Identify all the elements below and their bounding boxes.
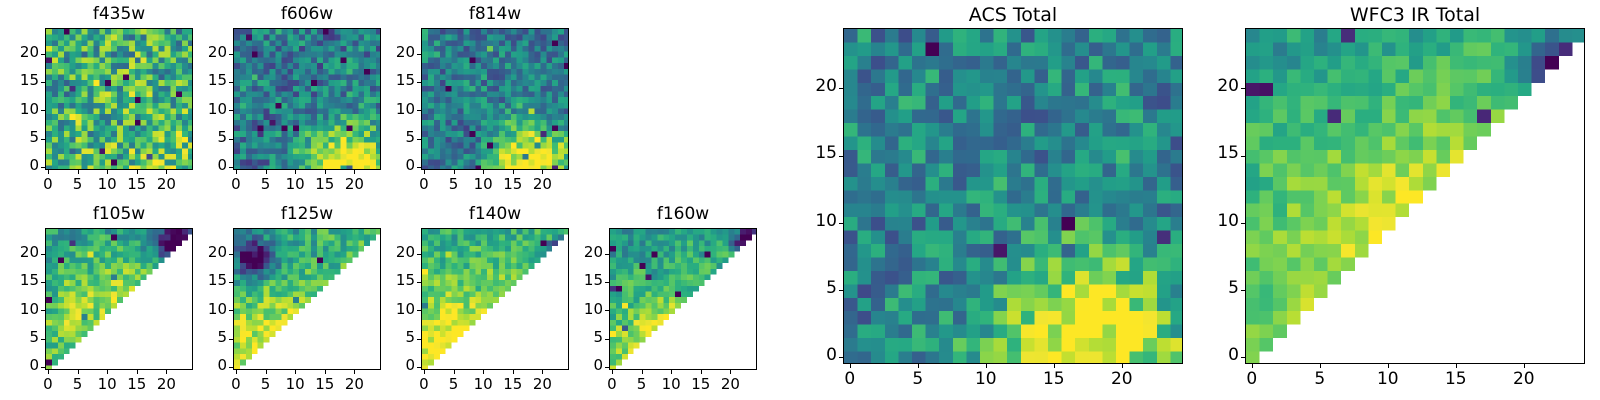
y-tick-mark bbox=[1241, 290, 1245, 291]
x-tick-mark bbox=[483, 370, 484, 374]
plot-area-f814w bbox=[421, 28, 569, 170]
x-tick-label: 20 bbox=[146, 375, 186, 393]
panel-title-f140w: f140w bbox=[421, 204, 569, 224]
heatmap-f105w bbox=[46, 229, 193, 370]
panel-title-acs-total: ACS Total bbox=[843, 4, 1183, 26]
y-tick-label: 0 bbox=[381, 156, 415, 174]
x-tick-label: 10 bbox=[966, 369, 1006, 389]
x-tick-label: 10 bbox=[1368, 369, 1408, 389]
x-tick-mark bbox=[166, 170, 167, 174]
y-tick-label: 20 bbox=[803, 76, 837, 96]
heatmap-wfc3-ir-total bbox=[1246, 29, 1585, 364]
y-tick-mark bbox=[417, 282, 421, 283]
x-tick-mark bbox=[513, 170, 514, 174]
x-tick-label: 5 bbox=[898, 369, 938, 389]
plot-area-wfc3-ir-total bbox=[1245, 28, 1585, 364]
y-tick-label: 10 bbox=[381, 100, 415, 118]
y-tick-mark bbox=[41, 254, 45, 255]
y-tick-mark bbox=[229, 82, 233, 83]
y-tick-label: 10 bbox=[381, 300, 415, 318]
y-tick-mark bbox=[605, 254, 609, 255]
heatmap-f606w bbox=[234, 29, 381, 170]
y-tick-label: 20 bbox=[569, 243, 603, 261]
y-tick-label: 15 bbox=[381, 71, 415, 89]
y-tick-mark bbox=[839, 156, 843, 157]
y-tick-label: 15 bbox=[5, 71, 39, 89]
x-tick-mark bbox=[671, 370, 672, 374]
y-tick-mark bbox=[229, 310, 233, 311]
x-tick-mark bbox=[266, 370, 267, 374]
x-tick-mark bbox=[1388, 364, 1389, 368]
x-tick-mark bbox=[1320, 364, 1321, 368]
y-tick-mark bbox=[417, 139, 421, 140]
y-tick-label: 15 bbox=[381, 271, 415, 289]
y-tick-label: 0 bbox=[381, 356, 415, 374]
y-tick-label: 10 bbox=[803, 211, 837, 231]
y-tick-mark bbox=[41, 82, 45, 83]
y-tick-mark bbox=[1241, 223, 1245, 224]
y-tick-label: 10 bbox=[5, 300, 39, 318]
x-tick-label: 5 bbox=[1300, 369, 1340, 389]
x-tick-mark bbox=[1122, 364, 1123, 368]
panel-f140w: f140w0510152005101520 bbox=[381, 204, 577, 398]
x-tick-mark bbox=[166, 370, 167, 374]
x-tick-mark bbox=[48, 170, 49, 174]
x-tick-mark bbox=[542, 170, 543, 174]
panel-f606w: f606w0510152005101520 bbox=[193, 4, 389, 198]
y-tick-mark bbox=[417, 167, 421, 168]
y-tick-label: 0 bbox=[569, 356, 603, 374]
y-tick-label: 20 bbox=[381, 243, 415, 261]
y-tick-label: 0 bbox=[1205, 345, 1239, 365]
x-tick-mark bbox=[1524, 364, 1525, 368]
y-tick-mark bbox=[1241, 88, 1245, 89]
x-tick-mark bbox=[1456, 364, 1457, 368]
y-tick-label: 15 bbox=[569, 271, 603, 289]
y-tick-mark bbox=[839, 88, 843, 89]
panel-f105w: f105w0510152005101520 bbox=[5, 204, 201, 398]
y-tick-mark bbox=[417, 254, 421, 255]
plot-area-acs-total bbox=[843, 28, 1183, 364]
y-tick-mark bbox=[417, 310, 421, 311]
y-tick-mark bbox=[605, 282, 609, 283]
x-tick-label: 20 bbox=[522, 175, 562, 193]
y-tick-mark bbox=[839, 290, 843, 291]
y-tick-mark bbox=[1241, 357, 1245, 358]
y-tick-mark bbox=[417, 54, 421, 55]
panel-acs-total: ACS Total0510152005101520 bbox=[803, 4, 1191, 392]
y-tick-label: 10 bbox=[1205, 211, 1239, 231]
plot-area-f606w bbox=[233, 28, 381, 170]
heatmap-f160w bbox=[610, 229, 757, 370]
panel-title-f105w: f105w bbox=[45, 204, 193, 224]
x-tick-mark bbox=[48, 370, 49, 374]
plot-area-f105w bbox=[45, 228, 193, 370]
y-tick-label: 0 bbox=[5, 156, 39, 174]
x-tick-mark bbox=[295, 370, 296, 374]
x-tick-mark bbox=[1252, 364, 1253, 368]
x-tick-label: 15 bbox=[1436, 369, 1476, 389]
plot-area-f435w bbox=[45, 28, 193, 170]
x-tick-mark bbox=[325, 170, 326, 174]
x-tick-label: 20 bbox=[522, 375, 562, 393]
panel-f160w: f160w0510152005101520 bbox=[569, 204, 765, 398]
x-tick-mark bbox=[325, 370, 326, 374]
y-tick-mark bbox=[229, 367, 233, 368]
y-tick-mark bbox=[839, 223, 843, 224]
x-tick-label: 15 bbox=[1034, 369, 1074, 389]
x-tick-mark bbox=[78, 370, 79, 374]
y-tick-label: 5 bbox=[1205, 278, 1239, 298]
panel-wfc3-ir-total: WFC3 IR Total0510152005101520 bbox=[1205, 4, 1593, 392]
panel-title-f606w: f606w bbox=[233, 4, 381, 24]
x-tick-mark bbox=[137, 370, 138, 374]
y-tick-label: 5 bbox=[5, 128, 39, 146]
y-tick-mark bbox=[229, 139, 233, 140]
panel-title-f435w: f435w bbox=[45, 4, 193, 24]
y-tick-mark bbox=[41, 367, 45, 368]
y-tick-label: 15 bbox=[193, 71, 227, 89]
y-tick-label: 15 bbox=[193, 271, 227, 289]
x-tick-mark bbox=[986, 364, 987, 368]
x-tick-mark bbox=[424, 370, 425, 374]
x-tick-mark bbox=[78, 170, 79, 174]
y-tick-label: 20 bbox=[193, 43, 227, 61]
y-tick-label: 10 bbox=[569, 300, 603, 318]
y-tick-mark bbox=[229, 282, 233, 283]
y-tick-label: 20 bbox=[193, 243, 227, 261]
y-tick-label: 20 bbox=[381, 43, 415, 61]
x-tick-mark bbox=[513, 370, 514, 374]
y-tick-label: 20 bbox=[5, 243, 39, 261]
x-tick-mark bbox=[295, 170, 296, 174]
x-tick-mark bbox=[107, 170, 108, 174]
y-tick-label: 0 bbox=[193, 356, 227, 374]
y-tick-label: 15 bbox=[1205, 143, 1239, 163]
y-tick-label: 5 bbox=[5, 328, 39, 346]
x-tick-label: 20 bbox=[710, 375, 750, 393]
y-tick-mark bbox=[839, 357, 843, 358]
x-tick-mark bbox=[454, 170, 455, 174]
x-tick-mark bbox=[918, 364, 919, 368]
y-tick-label: 5 bbox=[381, 328, 415, 346]
y-tick-label: 10 bbox=[5, 100, 39, 118]
y-tick-label: 10 bbox=[193, 300, 227, 318]
y-tick-label: 5 bbox=[193, 128, 227, 146]
y-tick-label: 20 bbox=[5, 43, 39, 61]
y-tick-mark bbox=[41, 282, 45, 283]
panel-f125w: f125w0510152005101520 bbox=[193, 204, 389, 398]
x-tick-label: 20 bbox=[334, 175, 374, 193]
y-tick-label: 5 bbox=[803, 278, 837, 298]
x-tick-mark bbox=[424, 170, 425, 174]
plot-area-f125w bbox=[233, 228, 381, 370]
y-tick-mark bbox=[229, 167, 233, 168]
y-tick-mark bbox=[417, 339, 421, 340]
y-tick-mark bbox=[417, 367, 421, 368]
x-tick-mark bbox=[354, 370, 355, 374]
y-tick-mark bbox=[605, 367, 609, 368]
x-tick-mark bbox=[483, 170, 484, 174]
heatmap-f125w bbox=[234, 229, 381, 370]
x-tick-mark bbox=[542, 370, 543, 374]
heatmap-acs-total bbox=[844, 29, 1183, 364]
y-tick-mark bbox=[229, 339, 233, 340]
y-tick-label: 0 bbox=[803, 345, 837, 365]
figure-canvas: f435w0510152005101520f606w05101520051015… bbox=[0, 0, 1600, 400]
y-tick-mark bbox=[605, 310, 609, 311]
x-tick-mark bbox=[236, 170, 237, 174]
x-tick-mark bbox=[612, 370, 613, 374]
y-tick-mark bbox=[229, 254, 233, 255]
y-tick-label: 5 bbox=[569, 328, 603, 346]
y-tick-mark bbox=[417, 110, 421, 111]
panel-title-f125w: f125w bbox=[233, 204, 381, 224]
x-tick-label: 0 bbox=[1232, 369, 1272, 389]
y-tick-mark bbox=[41, 54, 45, 55]
x-tick-mark bbox=[1054, 364, 1055, 368]
y-tick-mark bbox=[605, 339, 609, 340]
x-tick-mark bbox=[850, 364, 851, 368]
y-tick-mark bbox=[41, 310, 45, 311]
y-tick-mark bbox=[1241, 156, 1245, 157]
x-tick-mark bbox=[701, 370, 702, 374]
y-tick-mark bbox=[41, 110, 45, 111]
y-tick-label: 5 bbox=[193, 328, 227, 346]
x-tick-label: 20 bbox=[146, 175, 186, 193]
y-tick-mark bbox=[229, 110, 233, 111]
heatmap-f140w bbox=[422, 229, 569, 370]
y-tick-mark bbox=[41, 167, 45, 168]
x-tick-label: 20 bbox=[1504, 369, 1544, 389]
x-tick-mark bbox=[266, 170, 267, 174]
y-tick-mark bbox=[41, 339, 45, 340]
x-tick-label: 0 bbox=[830, 369, 870, 389]
panel-title-wfc3-ir-total: WFC3 IR Total bbox=[1245, 4, 1585, 26]
panel-title-f160w: f160w bbox=[609, 204, 757, 224]
panel-f814w: f814w0510152005101520 bbox=[381, 4, 577, 198]
panel-f435w: f435w0510152005101520 bbox=[5, 4, 201, 198]
y-tick-label: 20 bbox=[1205, 76, 1239, 96]
plot-area-f160w bbox=[609, 228, 757, 370]
x-tick-mark bbox=[642, 370, 643, 374]
panel-title-f814w: f814w bbox=[421, 4, 569, 24]
y-tick-label: 10 bbox=[193, 100, 227, 118]
y-tick-label: 15 bbox=[5, 271, 39, 289]
x-tick-mark bbox=[236, 370, 237, 374]
y-tick-mark bbox=[41, 139, 45, 140]
x-tick-mark bbox=[730, 370, 731, 374]
y-tick-mark bbox=[417, 82, 421, 83]
x-tick-label: 20 bbox=[334, 375, 374, 393]
x-tick-label: 20 bbox=[1102, 369, 1142, 389]
y-tick-label: 5 bbox=[381, 128, 415, 146]
x-tick-mark bbox=[354, 170, 355, 174]
y-tick-label: 0 bbox=[5, 356, 39, 374]
x-tick-mark bbox=[454, 370, 455, 374]
heatmap-f435w bbox=[46, 29, 193, 170]
y-tick-label: 0 bbox=[193, 156, 227, 174]
x-tick-mark bbox=[107, 370, 108, 374]
plot-area-f140w bbox=[421, 228, 569, 370]
heatmap-f814w bbox=[422, 29, 569, 170]
y-tick-mark bbox=[229, 54, 233, 55]
x-tick-mark bbox=[137, 170, 138, 174]
y-tick-label: 15 bbox=[803, 143, 837, 163]
